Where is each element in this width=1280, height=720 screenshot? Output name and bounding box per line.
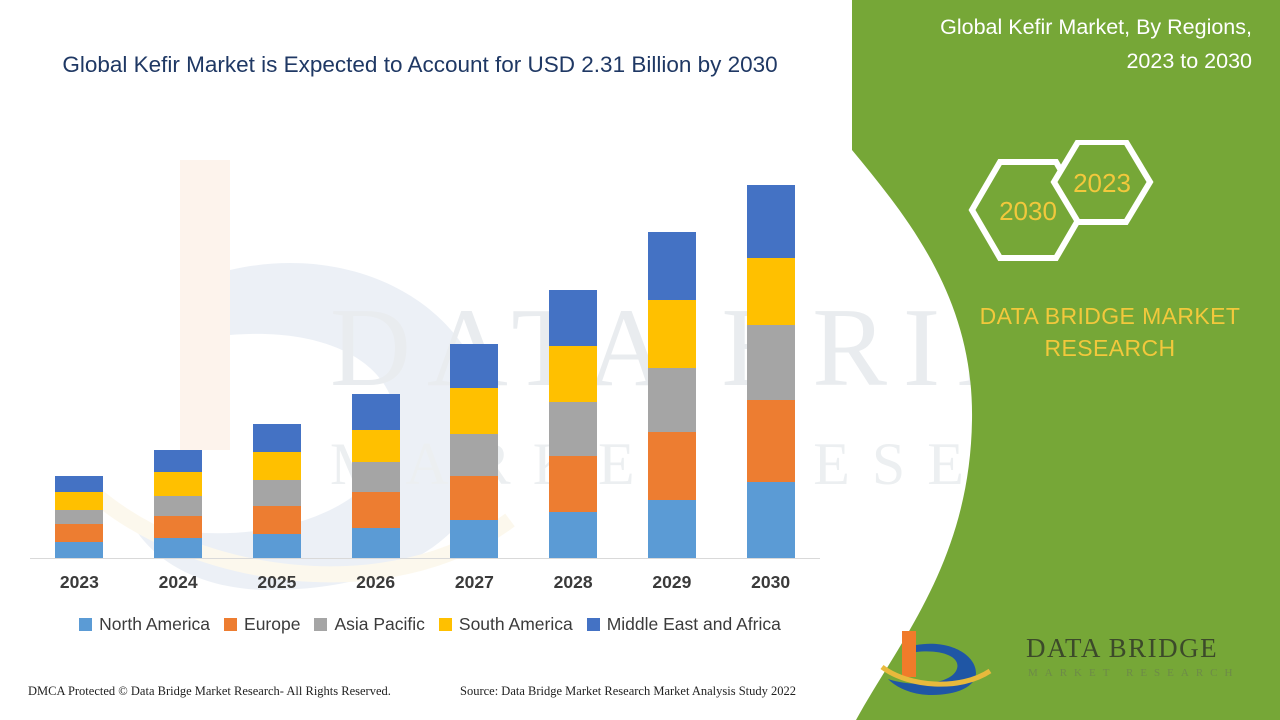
legend-item[interactable]: Europe (224, 614, 300, 635)
bar-slot (721, 160, 820, 558)
stacked-bar-2024 (154, 450, 202, 558)
legend-label: South America (459, 614, 573, 635)
bar-slot (228, 160, 327, 558)
bar-segment (648, 432, 696, 500)
bar-segment (648, 500, 696, 558)
stacked-bar-2029 (648, 232, 696, 558)
green-side-panel: Global Kefir Market, By Regions, 2023 to… (840, 0, 1280, 720)
data-bridge-mark-icon (878, 625, 998, 697)
logo-wordmark: DATA BRIDGE (1026, 633, 1218, 664)
bar-segment (253, 452, 301, 480)
bar-segment (549, 512, 597, 558)
bar-segment (747, 325, 795, 400)
legend-label: Europe (244, 614, 300, 635)
bar-segment (648, 368, 696, 432)
bar-segment (352, 430, 400, 462)
bar-segment (55, 476, 103, 492)
bar-segment (55, 492, 103, 510)
footer-source: Source: Data Bridge Market Research Mark… (460, 684, 796, 699)
bar-segment (549, 456, 597, 512)
legend-label: Asia Pacific (334, 614, 424, 635)
bar-segment (747, 258, 795, 325)
x-axis-label-2030: 2030 (721, 572, 820, 593)
bar-segment (747, 400, 795, 482)
legend-item[interactable]: Asia Pacific (314, 614, 424, 635)
bar-segment (450, 520, 498, 558)
stacked-bar-2027 (450, 344, 498, 558)
hexagon-2023-label: 2023 (1073, 168, 1131, 198)
bar-segment (450, 388, 498, 434)
bar-segment (648, 300, 696, 368)
legend-label: Middle East and Africa (607, 614, 781, 635)
x-axis-label-2026: 2026 (326, 572, 425, 593)
legend-swatch-icon (439, 618, 452, 631)
x-axis-label-2025: 2025 (228, 572, 327, 593)
bar-slot (30, 160, 129, 558)
x-axis-label-2027: 2027 (425, 572, 524, 593)
bar-segment (549, 402, 597, 456)
bar-segment (352, 462, 400, 492)
bar-segment (253, 424, 301, 452)
bar-segment (253, 480, 301, 506)
bar-segment (154, 516, 202, 538)
data-bridge-logo: DATA BRIDGE MARKET RESEARCH (878, 625, 1258, 703)
x-axis-label-2023: 2023 (30, 572, 129, 593)
brand-line-1: DATA BRIDGE MARKET (980, 303, 1241, 329)
legend-swatch-icon (224, 618, 237, 631)
bar-segment (253, 534, 301, 558)
stacked-bar-2028 (549, 290, 597, 558)
bar-segment (55, 542, 103, 558)
stacked-bar-2026 (352, 394, 400, 558)
bar-segment (55, 510, 103, 524)
bar-segment (253, 506, 301, 534)
side-panel-title: Global Kefir Market, By Regions, 2023 to… (892, 10, 1252, 78)
bar-segment (648, 232, 696, 300)
stacked-bar-2030 (747, 185, 795, 558)
hexagon-2030-label: 2030 (999, 196, 1057, 226)
legend-item[interactable]: South America (439, 614, 573, 635)
bar-segment (450, 476, 498, 520)
legend-swatch-icon (79, 618, 92, 631)
x-axis-label-2029: 2029 (623, 572, 722, 593)
legend-item[interactable]: Middle East and Africa (587, 614, 781, 635)
legend-item[interactable]: North America (79, 614, 210, 635)
bar-segment (747, 185, 795, 258)
brand-name: DATA BRIDGE MARKET RESEARCH (960, 300, 1260, 364)
footer-copyright: DMCA Protected © Data Bridge Market Rese… (28, 684, 391, 699)
stacked-bar-2023 (55, 476, 103, 558)
chart-title: Global Kefir Market is Expected to Accou… (60, 48, 780, 82)
bar-segment (549, 346, 597, 402)
bar-slot (524, 160, 623, 558)
bar-segment (154, 496, 202, 516)
bar-segment (352, 394, 400, 430)
bar-segment (154, 538, 202, 558)
infographic-root: DATA BRIDGE MARKET RESEARCH Global Kefir… (0, 0, 1280, 720)
bar-slot (425, 160, 524, 558)
x-axis-label-2028: 2028 (524, 572, 623, 593)
bar-segment (747, 482, 795, 558)
bar-segment (352, 528, 400, 558)
x-axis-label-2024: 2024 (129, 572, 228, 593)
chart-legend: North AmericaEuropeAsia PacificSouth Ame… (30, 614, 830, 635)
bar-segment (154, 450, 202, 472)
x-axis-labels: 20232024202520262027202820292030 (30, 572, 820, 593)
hexagon-pair-graphic: 2030 2023 (958, 140, 1168, 280)
stacked-bar-2025 (253, 424, 301, 558)
green-panel-content: Global Kefir Market, By Regions, 2023 to… (840, 0, 1280, 720)
logo-subtitle: MARKET RESEARCH (1028, 667, 1239, 679)
bar-slot (623, 160, 722, 558)
legend-swatch-icon (314, 618, 327, 631)
bar-segment (154, 472, 202, 496)
brand-line-2: RESEARCH (1044, 335, 1175, 361)
bar-segment (55, 524, 103, 542)
x-axis-line (30, 558, 820, 559)
bar-slot (129, 160, 228, 558)
legend-swatch-icon (587, 618, 600, 631)
chart-panel: Global Kefir Market is Expected to Accou… (0, 0, 870, 720)
bar-segment (450, 344, 498, 388)
bar-segment (549, 290, 597, 346)
bar-segment (352, 492, 400, 528)
bar-segment (450, 434, 498, 476)
legend-label: North America (99, 614, 210, 635)
bar-slot (326, 160, 425, 558)
stacked-bar-group (30, 160, 820, 558)
